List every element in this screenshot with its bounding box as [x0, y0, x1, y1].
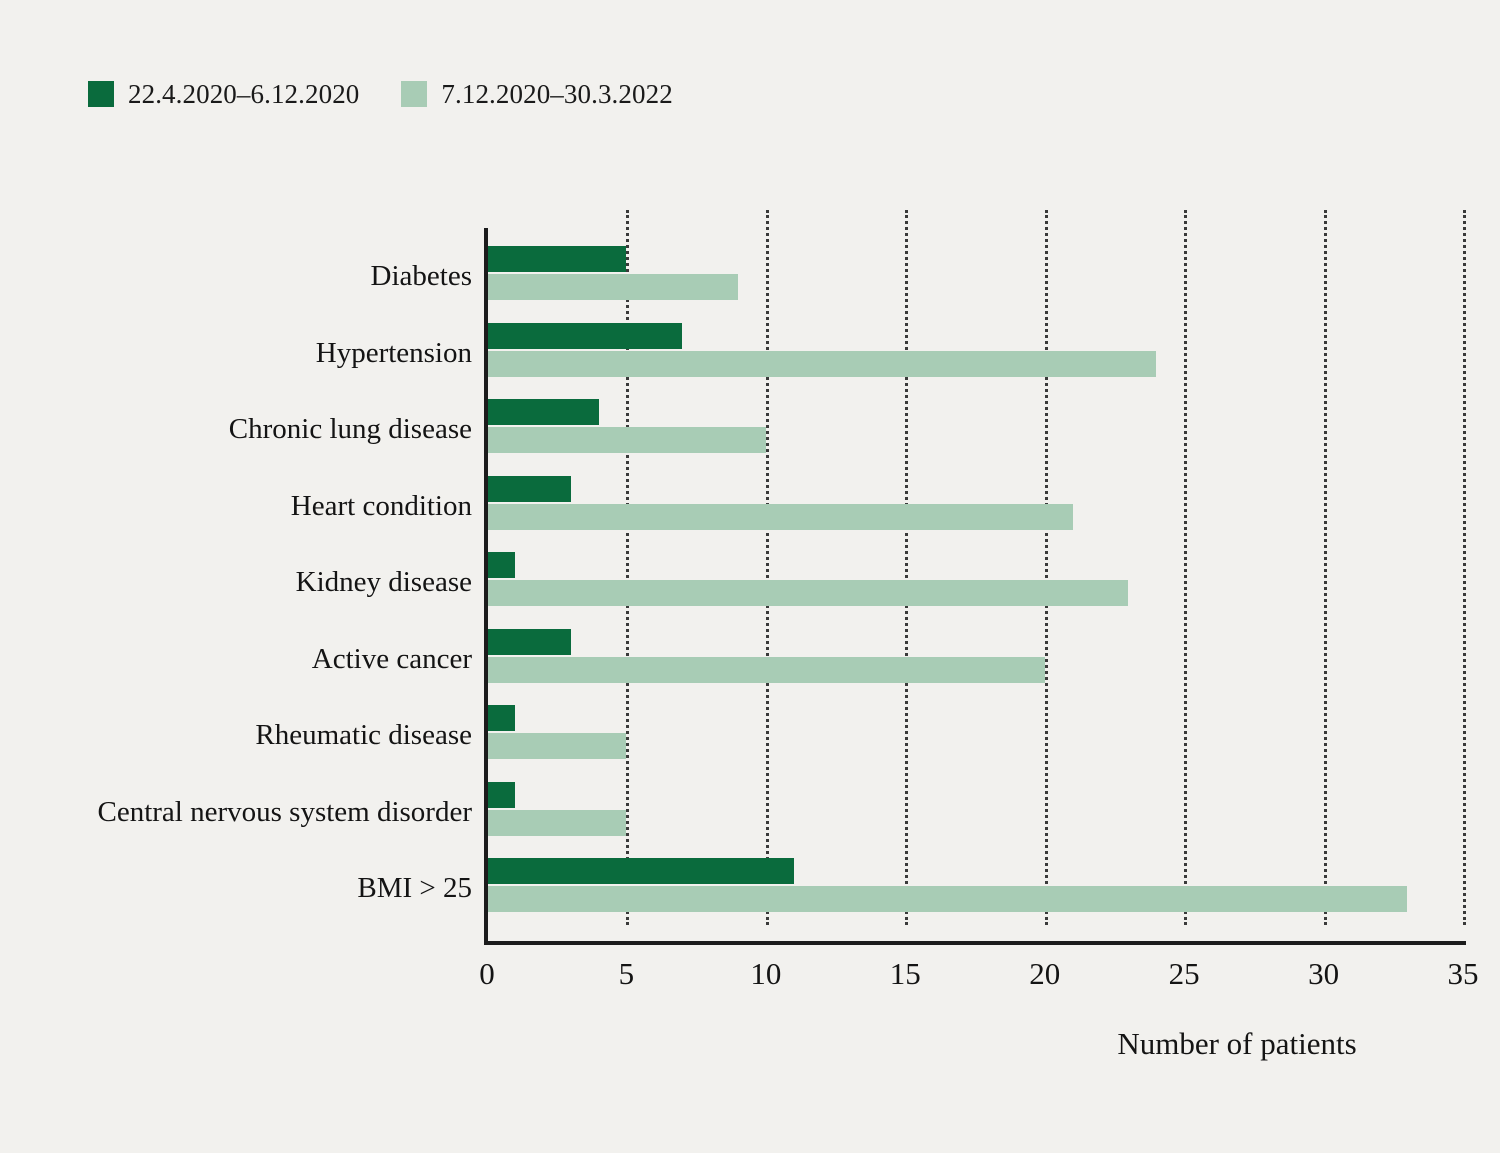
x-tick-label: 10 — [750, 958, 781, 989]
category-label: Diabetes — [371, 262, 484, 291]
bar-chart: DiabetesHypertensionChronic lung disease… — [0, 0, 1500, 1153]
category-label: Active cancer — [312, 645, 484, 674]
x-axis-title: Number of patients — [0, 1028, 1500, 1059]
bar[interactable] — [487, 580, 1128, 606]
bar[interactable] — [487, 504, 1073, 530]
x-axis-title-text: Number of patients — [1117, 1028, 1356, 1059]
x-tick-label: 35 — [1448, 958, 1479, 989]
bar[interactable] — [487, 705, 515, 731]
bar-group — [487, 476, 1463, 530]
bar[interactable] — [487, 399, 599, 425]
bar[interactable] — [487, 274, 738, 300]
bar[interactable] — [487, 552, 515, 578]
bar-group — [487, 399, 1463, 453]
bar[interactable] — [487, 476, 571, 502]
x-axis-line — [484, 941, 1466, 945]
category-label: Heart condition — [291, 492, 484, 521]
bar[interactable] — [487, 858, 794, 884]
bar[interactable] — [487, 810, 626, 836]
x-tick-label: 15 — [890, 958, 921, 989]
bar-group — [487, 552, 1463, 606]
category-label: Hypertension — [316, 339, 484, 368]
x-tick-label: 30 — [1308, 958, 1339, 989]
bar[interactable] — [487, 629, 571, 655]
category-label: Kidney disease — [296, 568, 484, 597]
bar[interactable] — [487, 657, 1045, 683]
x-tick-label: 25 — [1169, 958, 1200, 989]
bar-group — [487, 629, 1463, 683]
gridline-35 — [1463, 210, 1466, 925]
bar-group — [487, 705, 1463, 759]
plot-area — [487, 228, 1463, 943]
bar[interactable] — [487, 782, 515, 808]
x-tick-label: 5 — [619, 958, 635, 989]
bar[interactable] — [487, 886, 1407, 912]
bar[interactable] — [487, 323, 682, 349]
x-tick-label: 20 — [1029, 958, 1060, 989]
bar[interactable] — [487, 351, 1156, 377]
bar-group — [487, 323, 1463, 377]
x-tick-label: 0 — [479, 958, 495, 989]
category-label: Central nervous system disorder — [97, 798, 484, 827]
bar[interactable] — [487, 733, 626, 759]
bar-group — [487, 782, 1463, 836]
category-label: BMI > 25 — [357, 874, 484, 903]
bar[interactable] — [487, 427, 766, 453]
bar-group — [487, 246, 1463, 300]
y-axis-line — [484, 228, 488, 944]
bar[interactable] — [487, 246, 626, 272]
bar-group — [487, 858, 1463, 912]
category-label: Rheumatic disease — [255, 721, 484, 750]
category-label: Chronic lung disease — [229, 415, 484, 444]
